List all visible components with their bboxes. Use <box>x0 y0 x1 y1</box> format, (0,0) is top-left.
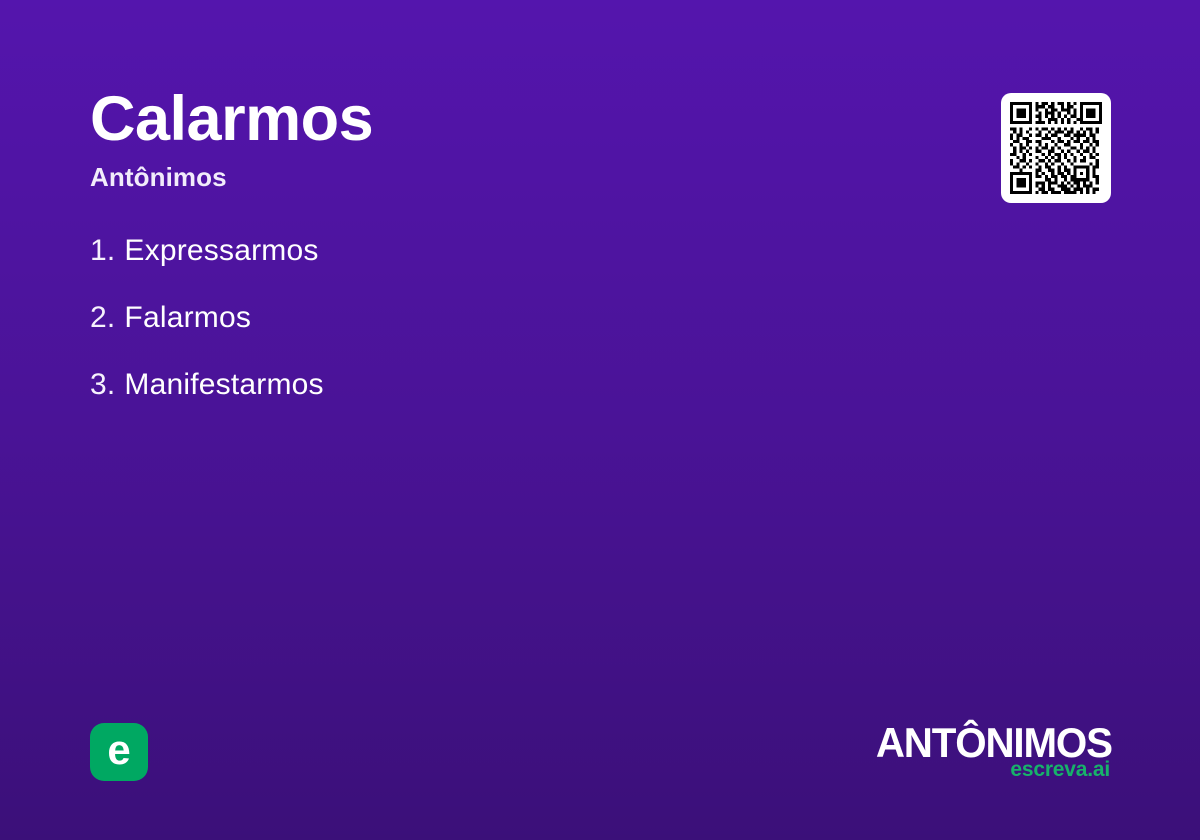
list-item-label: Expressarmos <box>124 236 318 266</box>
qr-code-icon[interactable] <box>1001 93 1111 203</box>
escreva-badge-icon[interactable]: e <box>90 723 148 781</box>
list-item-label: Manifestarmos <box>124 370 323 400</box>
list-item-index: 3. <box>90 370 115 400</box>
badge-letter: e <box>107 729 130 771</box>
list-item-index: 1. <box>90 236 115 266</box>
list-item: 2. Falarmos <box>90 303 910 370</box>
list-item-label: Falarmos <box>124 303 251 333</box>
wordmark-primary: ANTÔNIMOS <box>876 722 1112 764</box>
list-item: 3. Manifestarmos <box>90 370 910 437</box>
headline-block: Calarmos Antônimos <box>90 86 373 191</box>
page-subtitle: Antônimos <box>90 163 373 192</box>
list-item-index: 2. <box>90 303 115 333</box>
antonyms-card: Calarmos Antônimos 1. Expressarmos 2. Fa… <box>0 0 1200 840</box>
antonyms-list: 1. Expressarmos 2. Falarmos 3. Manifesta… <box>90 236 910 437</box>
list-item: 1. Expressarmos <box>90 236 910 303</box>
page-title: Calarmos <box>90 86 373 153</box>
brand-wordmark[interactable]: ANTÔNIMOS escreva.ai <box>866 722 1112 780</box>
